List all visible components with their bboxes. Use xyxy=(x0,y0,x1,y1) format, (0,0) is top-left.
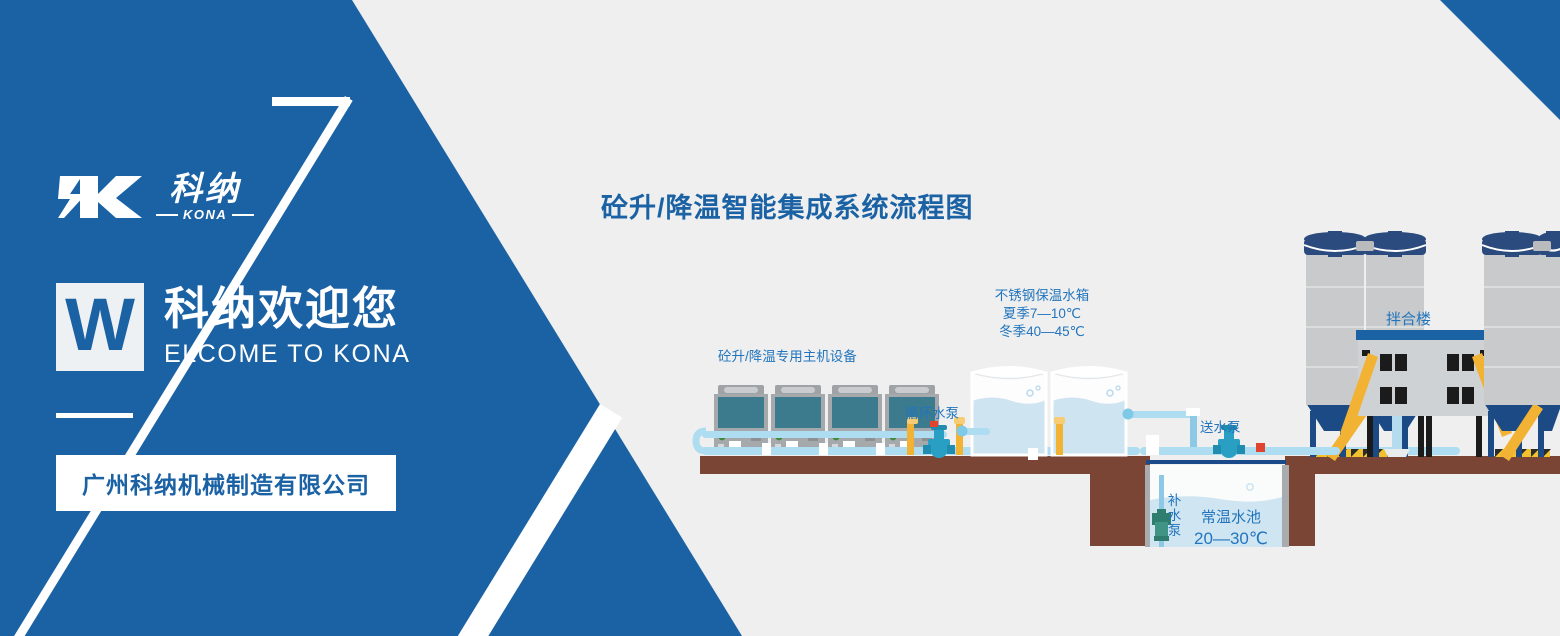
welcome-initial-letter: W xyxy=(65,292,135,359)
cement-silo-right xyxy=(1482,231,1560,461)
label-chiller: 砼升/降温专用主机设备 xyxy=(718,348,857,366)
pool-liner-right xyxy=(1281,465,1289,547)
chiller-unit-2 xyxy=(771,385,825,455)
downcomer-joint xyxy=(1186,408,1200,416)
plant-feed-pipe xyxy=(1280,447,1340,455)
label-pool-temp: 20—30℃ xyxy=(1186,528,1276,550)
pool-wall-left xyxy=(1090,456,1150,546)
pipe-joint-3 xyxy=(876,443,885,455)
riser-cap-3 xyxy=(1054,417,1065,424)
label-pool-group: 常温水池 20—30℃ xyxy=(1186,508,1276,550)
welcome-initial-box: W xyxy=(56,283,144,371)
tank-outlet-valve-1 xyxy=(957,426,968,437)
kn-monogram-icon xyxy=(56,172,148,222)
pool-inlet-fitting xyxy=(1146,435,1159,455)
chiller-unit-1 xyxy=(714,385,768,455)
pool-rim xyxy=(1146,460,1286,464)
logo-english-name: KONA xyxy=(156,207,254,222)
company-name-text: 广州科纳机械制造有限公司 xyxy=(82,472,370,498)
manifold-return-bend xyxy=(696,431,706,451)
label-supply-pump: 送水泵 xyxy=(1200,419,1241,437)
pipe-joint-1 xyxy=(762,443,771,455)
brand-divider xyxy=(56,413,133,418)
welcome-block: W 科纳欢迎您 ELCOME TO KONA xyxy=(56,283,411,371)
chiller-unit-3 xyxy=(828,385,882,455)
label-circulation-pump: 循环水泵 xyxy=(905,405,959,423)
label-tank-group: 不锈钢保温水箱 夏季7—10℃ 冬季40—45℃ xyxy=(967,287,1117,340)
label-tank-winter: 冬季40—45℃ xyxy=(967,323,1117,341)
pool-wall-right xyxy=(1285,456,1315,546)
marketing-banner: 科纳 KONA W 科纳欢迎您 ELCOME TO KONA 广州科纳机械制造有… xyxy=(0,0,1560,636)
riser-pipe-yellow-3 xyxy=(1056,421,1063,455)
tank-outlet-2 xyxy=(1126,411,1196,418)
pipe-joint-2 xyxy=(819,443,828,455)
label-tank-summer: 夏季7—10℃ xyxy=(967,305,1117,323)
valve-indicator-2 xyxy=(1256,443,1265,452)
tank-base-joint xyxy=(1028,448,1038,460)
water-tank-2 xyxy=(1052,368,1126,456)
company-name-box: 广州科纳机械制造有限公司 xyxy=(56,455,396,511)
riser-pipe-yellow-1 xyxy=(907,421,914,455)
water-tank-1 xyxy=(972,368,1046,456)
label-pool-title: 常温水池 xyxy=(1186,508,1276,528)
label-tank-title: 不锈钢保温水箱 xyxy=(967,287,1117,305)
ground-slab-right xyxy=(1285,456,1560,474)
diagram-title: 砼升/降温智能集成系统流程图 xyxy=(601,186,974,225)
label-mixing-tower: 拌合楼 xyxy=(1386,310,1431,330)
logo-chinese-name: 科纳 xyxy=(169,172,241,205)
welcome-headline-en: ELCOME TO KONA xyxy=(164,340,411,369)
welcome-headline-cn: 科纳欢迎您 xyxy=(164,285,411,334)
process-diagram-svg xyxy=(640,225,1560,565)
brand-logo[interactable]: 科纳 KONA xyxy=(56,172,254,222)
tank-outlet-valve-2 xyxy=(1123,409,1134,420)
ground-slab-left xyxy=(700,456,1150,474)
label-makeup-pump: 补水泵 xyxy=(1167,493,1182,538)
process-flow-illustration: 砼升/降温专用主机设备 循环水泵 不锈钢保温水箱 夏季7—10℃ 冬季40—45… xyxy=(640,225,1560,565)
corner-accent-triangle xyxy=(1440,0,1560,120)
